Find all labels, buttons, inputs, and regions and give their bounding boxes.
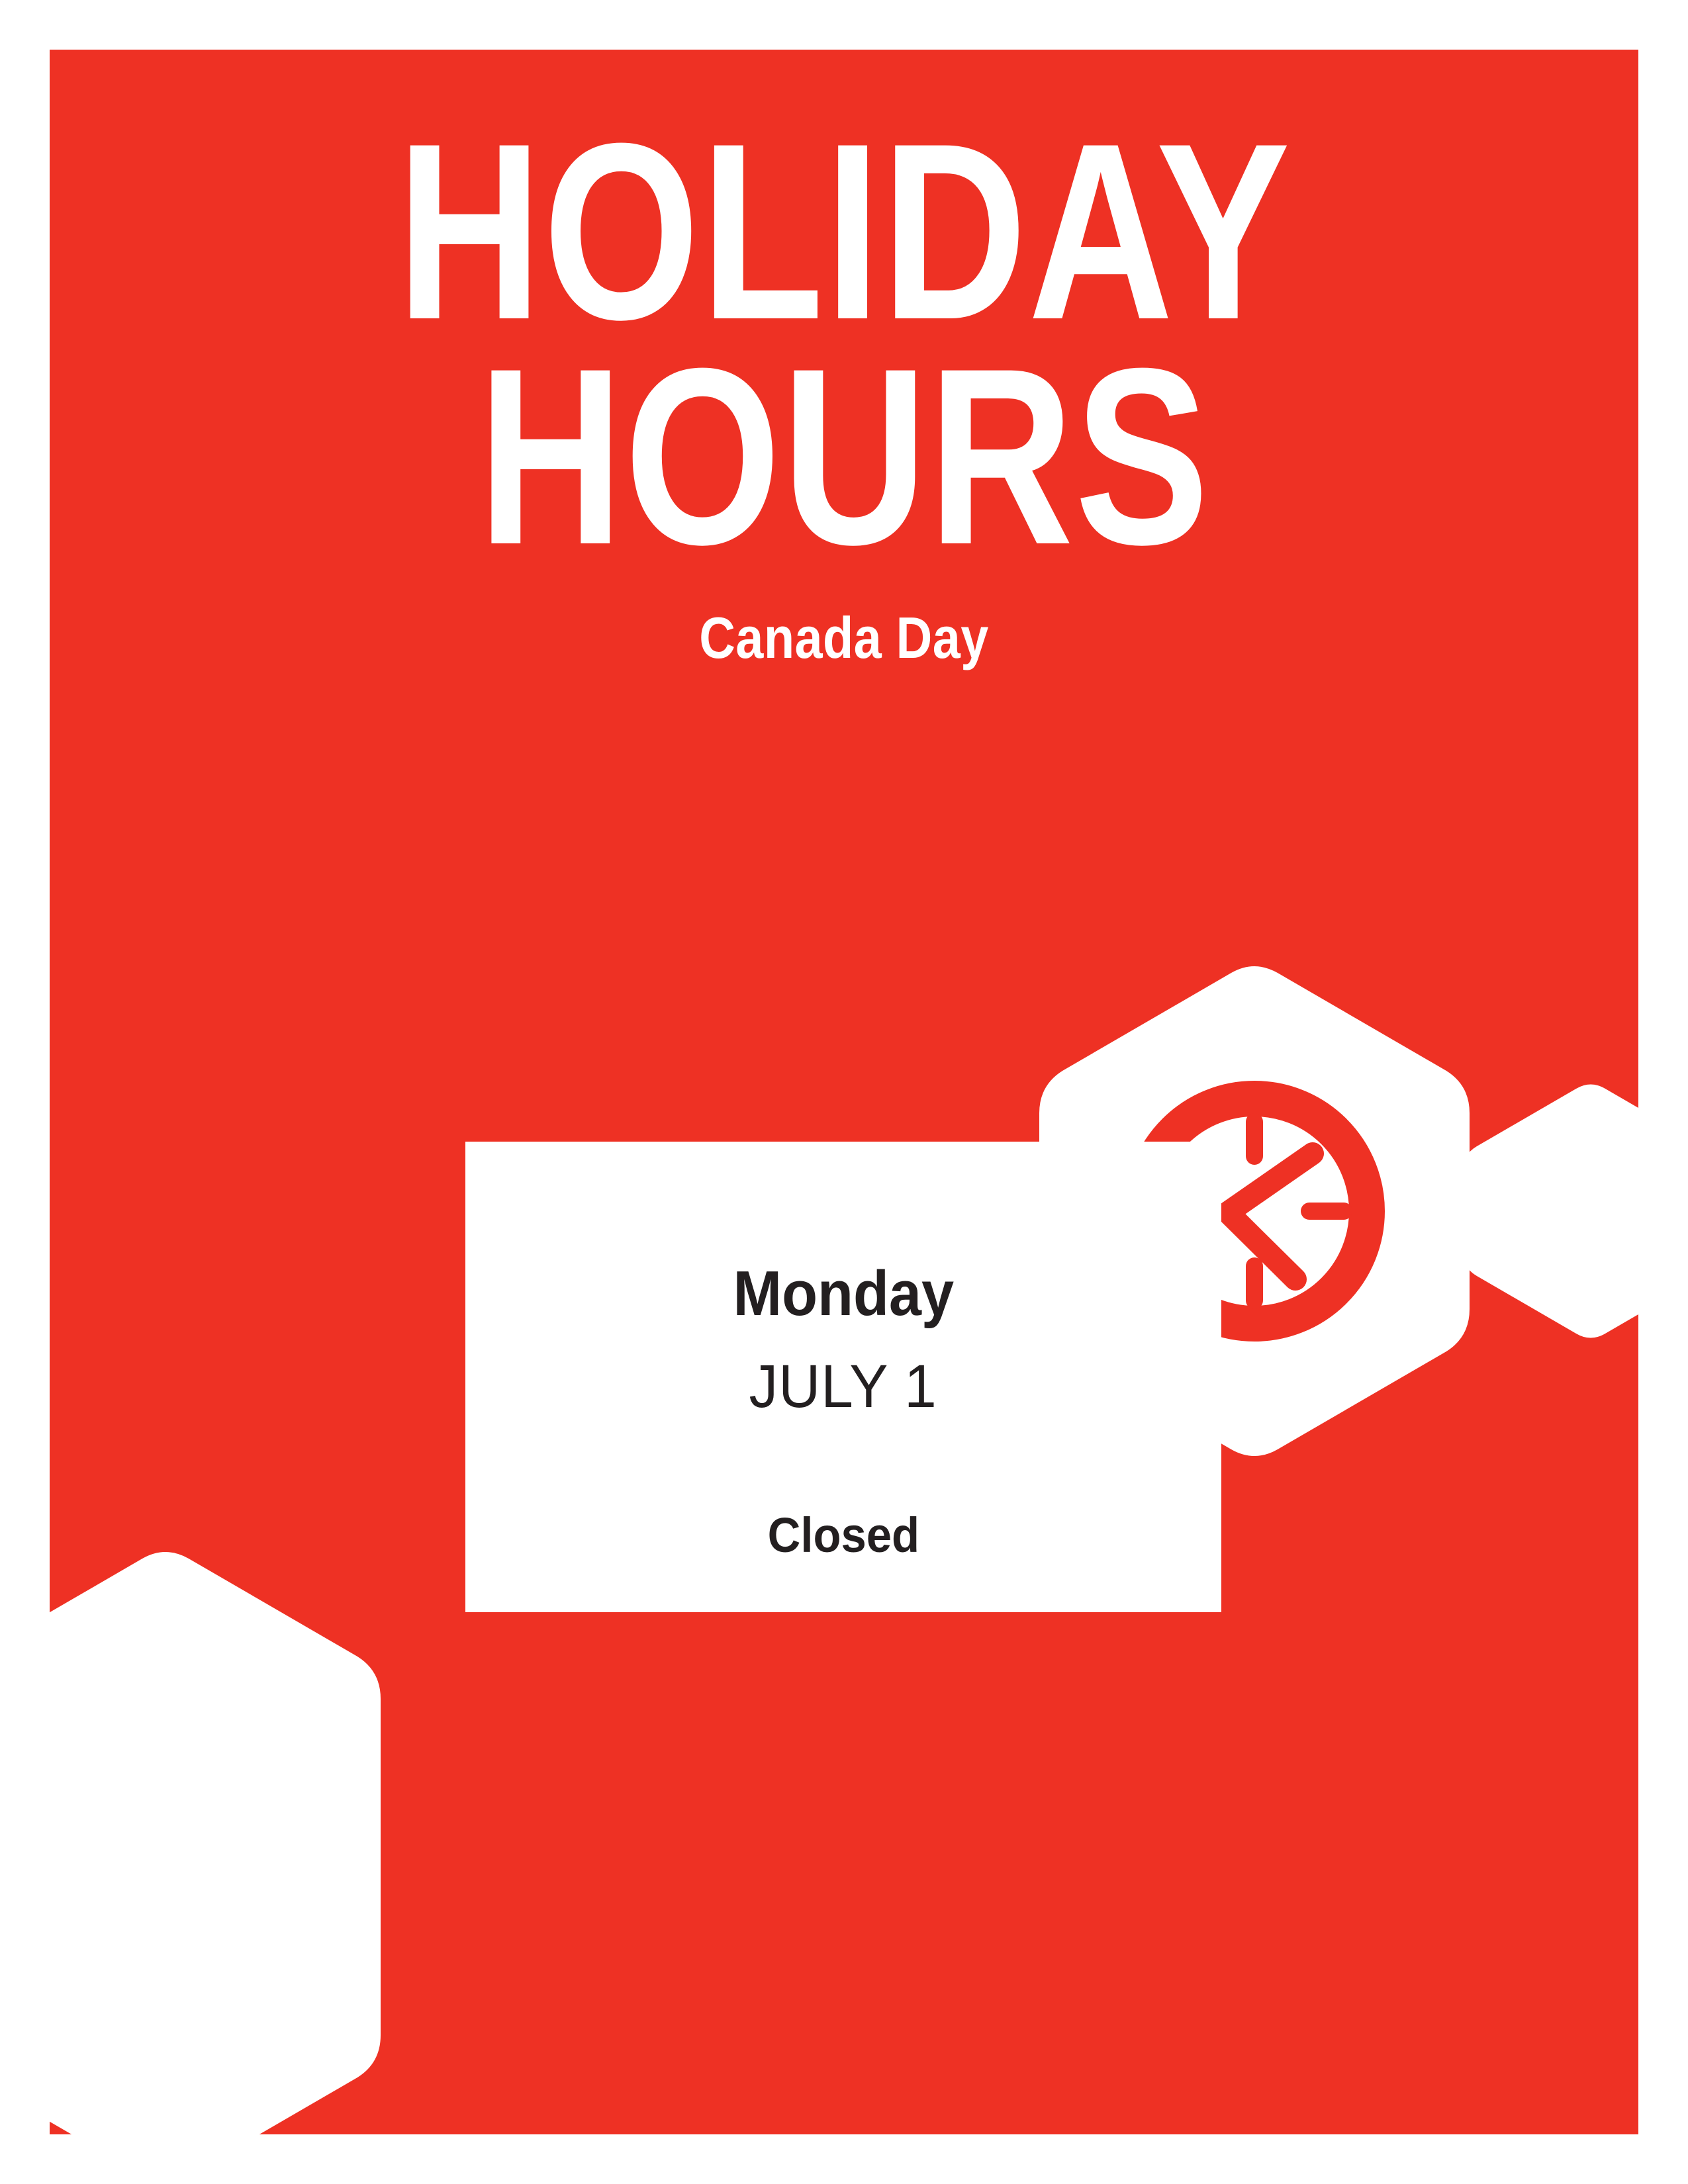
card-date-label: JULY 1: [749, 1356, 937, 1417]
holiday-hours-poster: HOLIDAY HOURS Canada Day Monday JULY 1 C…: [0, 0, 1688, 2184]
card-status-label: Closed: [767, 1511, 919, 1560]
holiday-info-card: Monday JULY 1 Closed: [465, 1142, 1221, 1612]
large-hexagon-icon: [50, 1552, 381, 2134]
decorative-shapes-layer: [50, 50, 1638, 2134]
small-hexagon-icon: [1462, 1085, 1638, 1338]
red-background-panel: HOLIDAY HOURS Canada Day Monday JULY 1 C…: [50, 50, 1638, 2134]
card-day-label: Monday: [733, 1262, 954, 1326]
